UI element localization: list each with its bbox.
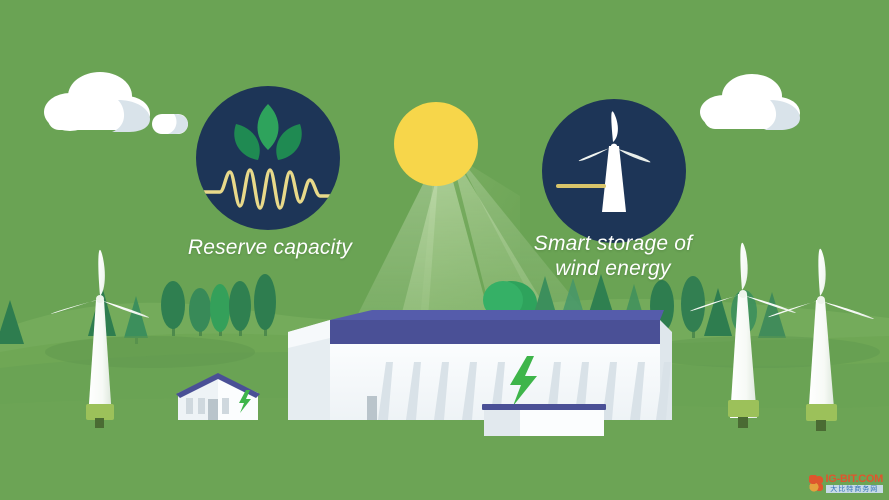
watermark: IG-BIT.COM 大比特商务网 <box>809 474 884 493</box>
substation-front <box>482 404 606 436</box>
shadow-turbine-left <box>45 336 255 368</box>
icon-yellow-bar <box>556 184 606 188</box>
cloud-small-left <box>152 114 188 134</box>
right-circle-icon <box>542 99 686 243</box>
warehouse-main <box>288 310 672 420</box>
ig-bit-logo-icon <box>809 475 823 492</box>
left-circle-icon <box>196 86 340 230</box>
sun <box>394 102 478 186</box>
shadow-turbines-right <box>640 336 880 368</box>
watermark-domain: IG-BIT.COM <box>826 474 884 485</box>
scene-svg <box>0 0 889 500</box>
watermark-text: IG-BIT.COM 大比特商务网 <box>826 474 884 493</box>
watermark-subtitle: 大比特商务网 <box>826 485 884 493</box>
illustration-canvas: Reserve capacity Smart storage of wind e… <box>0 0 889 500</box>
